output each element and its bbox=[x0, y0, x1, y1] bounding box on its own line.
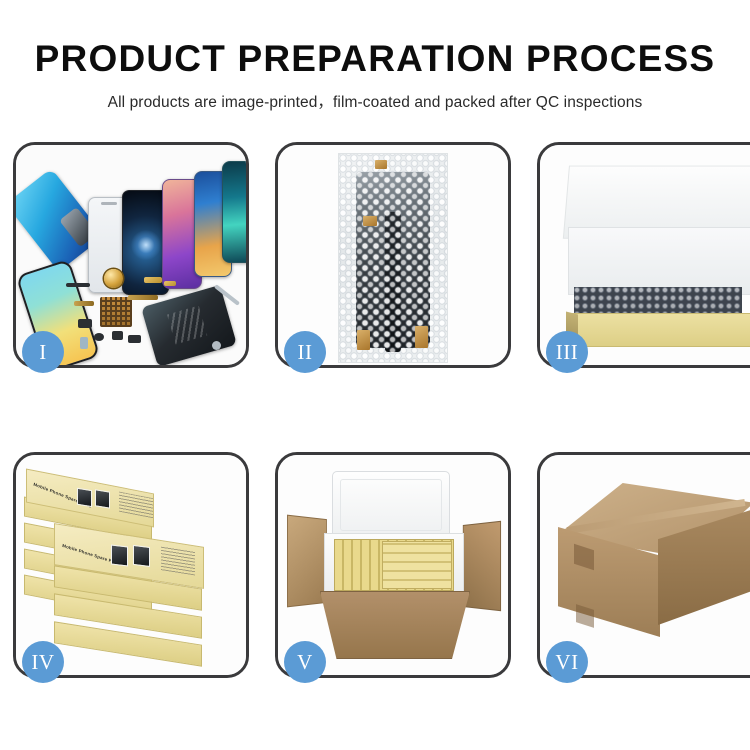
sim-tray-icon bbox=[80, 337, 88, 349]
page-subtitle: All products are image-printed，film-coat… bbox=[0, 90, 750, 112]
bubble-wrap-bag bbox=[338, 153, 448, 363]
speaker-icon bbox=[94, 333, 104, 341]
carton-body bbox=[320, 591, 470, 659]
phone-teal-icon bbox=[222, 161, 246, 263]
box-window-icon bbox=[77, 488, 92, 507]
process-step-1[interactable]: I bbox=[13, 142, 249, 368]
box-front-wall-icon bbox=[568, 313, 750, 347]
step-badge-6: VI bbox=[546, 641, 588, 683]
process-step-grid: I II III bbox=[13, 142, 737, 678]
box-window-icon bbox=[111, 544, 128, 566]
flex-cable-icon bbox=[74, 301, 94, 306]
step-badge-1: I bbox=[22, 331, 64, 373]
gold-flex-icon bbox=[144, 277, 162, 283]
box-spec-text bbox=[119, 492, 153, 519]
step-badge-5: V bbox=[284, 641, 326, 683]
logic-board-icon bbox=[100, 297, 132, 327]
tape-icon bbox=[363, 216, 377, 226]
bubble-texture bbox=[339, 154, 447, 362]
vibrator-icon bbox=[112, 331, 123, 340]
step-badge-2: II bbox=[284, 331, 326, 373]
screw-icon bbox=[212, 341, 221, 350]
gold-flex-icon bbox=[164, 281, 176, 286]
chip-icon bbox=[66, 283, 90, 287]
box-spec-text bbox=[161, 546, 195, 575]
process-step-4[interactable]: Mobile Phone Spare Parts Mobile Phone Sp… bbox=[13, 452, 249, 678]
process-step-6[interactable]: VI bbox=[537, 452, 750, 678]
process-step-5[interactable]: V bbox=[275, 452, 511, 678]
box-window-icon bbox=[133, 545, 150, 567]
tape-icon bbox=[375, 160, 387, 169]
connector-icon bbox=[128, 335, 141, 343]
carton-flap-right bbox=[463, 521, 501, 611]
page-title: PRODUCT PREPARATION PROCESS bbox=[0, 40, 750, 77]
page-header: PRODUCT PREPARATION PROCESS All products… bbox=[0, 0, 750, 112]
chip-icon bbox=[78, 319, 92, 328]
step-badge-4: IV bbox=[22, 641, 64, 683]
process-step-2[interactable]: II bbox=[275, 142, 511, 368]
foam-lid-icon bbox=[332, 471, 450, 539]
box-stack: Mobile Phone Spare Parts Mobile Phone Sp… bbox=[22, 473, 244, 665]
inner-boxes-row bbox=[382, 541, 452, 589]
box-back-wall-icon bbox=[568, 227, 750, 295]
process-step-3[interactable]: III bbox=[537, 142, 750, 368]
camera-module-icon bbox=[104, 269, 123, 288]
step-badge-3: III bbox=[546, 331, 588, 373]
box-window-icon bbox=[95, 489, 110, 508]
bubble-padding-icon bbox=[574, 287, 742, 315]
tape-icon bbox=[415, 326, 428, 348]
tape-icon bbox=[357, 330, 370, 350]
flex-cable-icon bbox=[128, 295, 158, 300]
